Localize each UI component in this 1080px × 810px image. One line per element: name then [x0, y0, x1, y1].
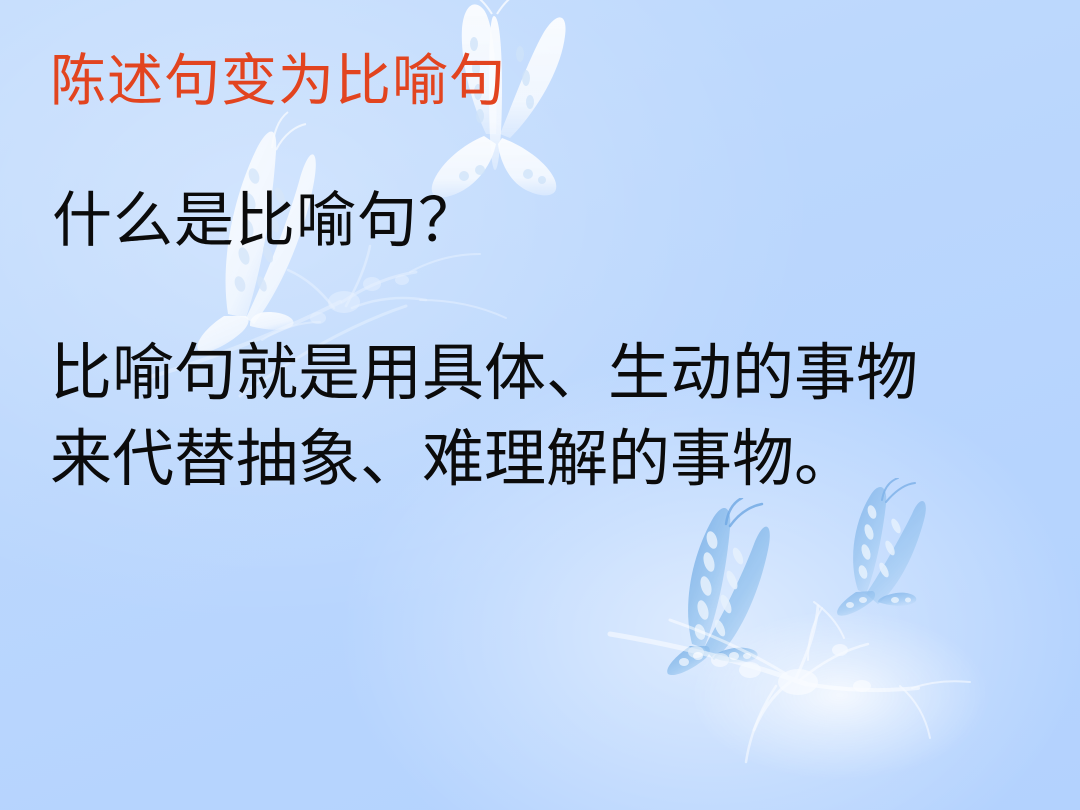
slide-content: 陈述句变为比喻句 什么是比喻句？ 比喻句就是用具体、生动的事物 来代替抽象、难理… — [0, 0, 1080, 810]
definition-line-1: 比喻句就是用具体、生动的事物 — [50, 330, 1050, 416]
definition-paragraph: 比喻句就是用具体、生动的事物 来代替抽象、难理解的事物。 — [50, 330, 1050, 501]
presentation-slide: 陈述句变为比喻句 什么是比喻句？ 比喻句就是用具体、生动的事物 来代替抽象、难理… — [0, 0, 1080, 810]
definition-line-2: 来代替抽象、难理解的事物。 — [50, 416, 1050, 502]
slide-title: 陈述句变为比喻句 — [50, 52, 506, 112]
question-heading: 什么是比喻句？ — [52, 188, 479, 254]
